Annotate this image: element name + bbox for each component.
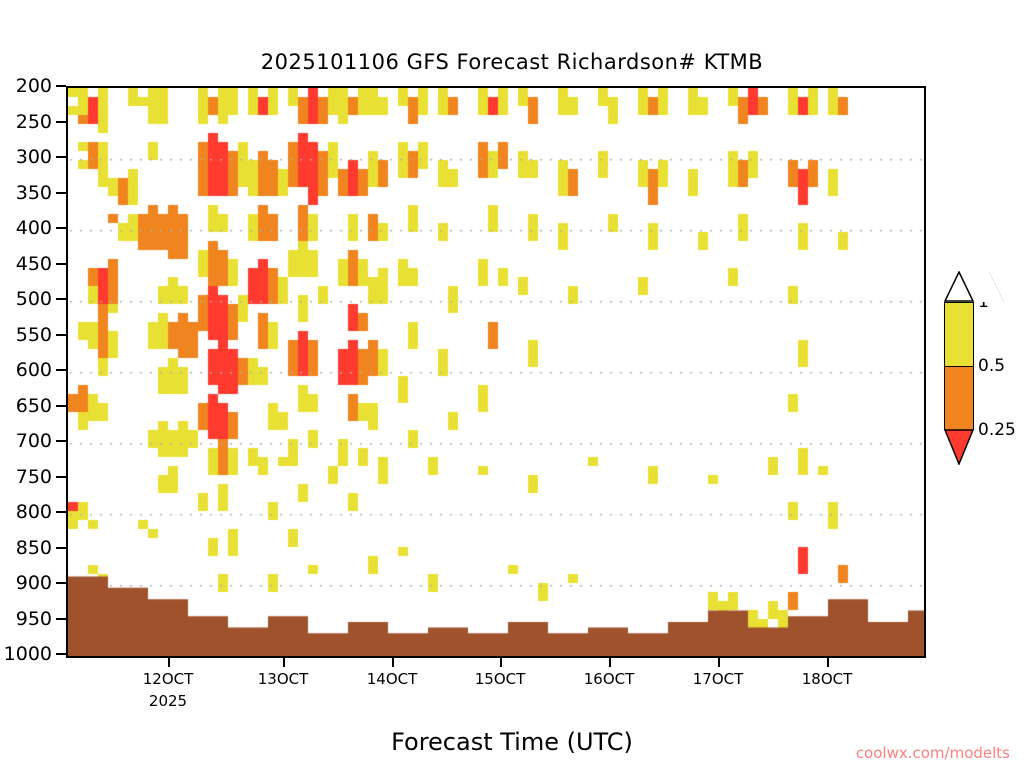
x-axis-label: 12OCT <box>143 670 194 688</box>
x-axis-tick <box>609 658 611 667</box>
y-axis-tick <box>56 85 66 87</box>
y-axis-label: 800 <box>16 501 52 523</box>
y-axis-tick <box>56 547 66 549</box>
y-axis-tick <box>56 476 66 478</box>
colorbar-top-arrow-outline <box>944 271 974 302</box>
y-axis-tick <box>56 334 66 336</box>
x-axis-tick <box>283 658 285 667</box>
colorbar-band <box>945 303 973 366</box>
y-axis-tick <box>56 653 66 655</box>
y-axis-tick <box>56 156 66 158</box>
y-axis-label: 450 <box>16 253 52 275</box>
y-axis-label: 850 <box>16 537 52 559</box>
plot-area <box>66 86 926 658</box>
y-axis-label: 550 <box>16 324 52 346</box>
y-axis-label: 900 <box>16 572 52 594</box>
colorbar-tick-label: 0.5 <box>978 356 1005 376</box>
y-axis-label: 300 <box>16 146 52 168</box>
x-axis-label: 13OCT <box>258 670 309 688</box>
colorbar-tick-label: 0.25 <box>978 420 1016 440</box>
y-axis-tick <box>56 582 66 584</box>
y-axis-label: 200 <box>16 75 52 97</box>
x-axis-tick <box>168 658 170 667</box>
chart-page: 2025101106 GFS Forecast Richardson# KTMB… <box>0 0 1024 768</box>
y-axis-tick <box>56 263 66 265</box>
y-axis-tick <box>56 298 66 300</box>
y-axis-tick <box>56 440 66 442</box>
x-axis-year-label: 2025 <box>149 692 187 710</box>
x-axis-tick <box>827 658 829 667</box>
y-axis-label: 250 <box>16 111 52 133</box>
y-axis-tick <box>56 511 66 513</box>
page-title: 2025101106 GFS Forecast Richardson# KTMB <box>0 50 1024 74</box>
y-axis-label: 650 <box>16 395 52 417</box>
y-axis-label: 950 <box>16 608 52 630</box>
y-axis-label: 600 <box>16 359 52 381</box>
y-axis-label: 1000 <box>4 643 52 665</box>
x-axis-tick <box>392 658 394 667</box>
colorbar <box>944 302 974 430</box>
colorbar-bottom-arrow <box>944 429 974 465</box>
y-axis: 2002503003504004505005506006507007508008… <box>0 86 66 658</box>
y-axis-tick <box>56 369 66 371</box>
x-axis-label: 17OCT <box>693 670 744 688</box>
y-axis-tick <box>56 618 66 620</box>
y-axis-tick <box>56 192 66 194</box>
x-axis-label: 15OCT <box>475 670 526 688</box>
x-axis-tick <box>500 658 502 667</box>
y-axis-tick <box>56 121 66 123</box>
y-axis-tick <box>56 227 66 229</box>
y-axis-tick <box>56 405 66 407</box>
y-axis-label: 400 <box>16 217 52 239</box>
x-axis-label: 18OCT <box>802 670 853 688</box>
x-axis-label: 16OCT <box>584 670 635 688</box>
x-axis-label: 14OCT <box>367 670 418 688</box>
y-axis-label: 350 <box>16 182 52 204</box>
heatmap-canvas <box>68 88 924 656</box>
colorbar-band <box>945 366 973 430</box>
y-axis-label: 750 <box>16 466 52 488</box>
x-axis: 12OCT202513OCT14OCT15OCT16OCT17OCT18OCT <box>66 658 926 718</box>
credit-watermark: coolwx.com/modelts <box>856 744 1010 762</box>
y-axis-label: 500 <box>16 288 52 310</box>
y-axis-label: 700 <box>16 430 52 452</box>
x-axis-tick <box>718 658 720 667</box>
